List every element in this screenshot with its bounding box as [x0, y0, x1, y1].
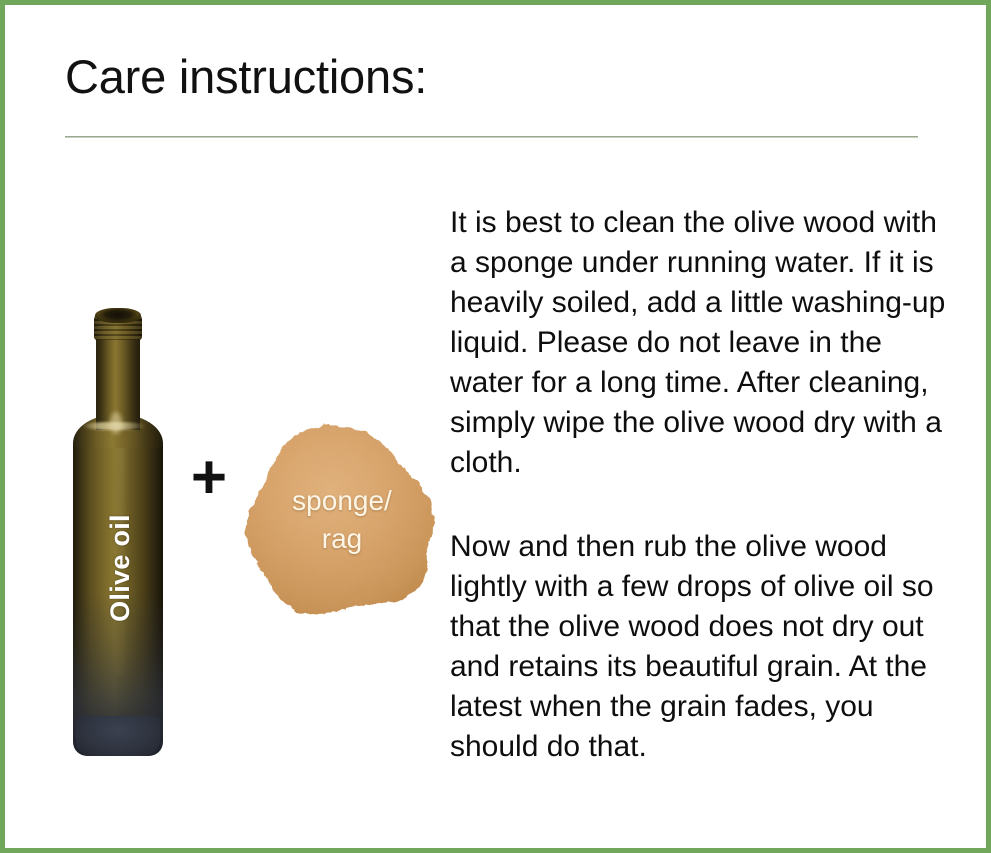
bottle-mouth	[95, 308, 141, 323]
care-instructions-text: It is best to clean the olive wood with …	[450, 203, 950, 767]
care-instructions-page: Care instructions: Olive oil +	[0, 0, 991, 853]
olive-oil-bottle-image: Olive oil	[72, 308, 164, 756]
bottle-neck-highlight	[110, 412, 122, 434]
care-paragraph-1: It is best to clean the olive wood with …	[450, 203, 950, 483]
bottle-label-text: Olive oil	[105, 468, 135, 668]
sponge-label-text: sponge/ rag	[241, 482, 443, 558]
sponge-label-line-1: sponge/	[241, 482, 443, 520]
care-paragraph-2: Now and then rub the olive wood lightly …	[450, 527, 950, 767]
bottle-base	[76, 716, 160, 756]
plus-icon: +	[183, 445, 235, 511]
illustration-group: Olive oil +	[5, 5, 445, 848]
page-content: Care instructions: Olive oil +	[5, 5, 986, 848]
sponge-rag-image: sponge/ rag	[241, 420, 443, 628]
sponge-label-line-2: rag	[241, 520, 443, 558]
